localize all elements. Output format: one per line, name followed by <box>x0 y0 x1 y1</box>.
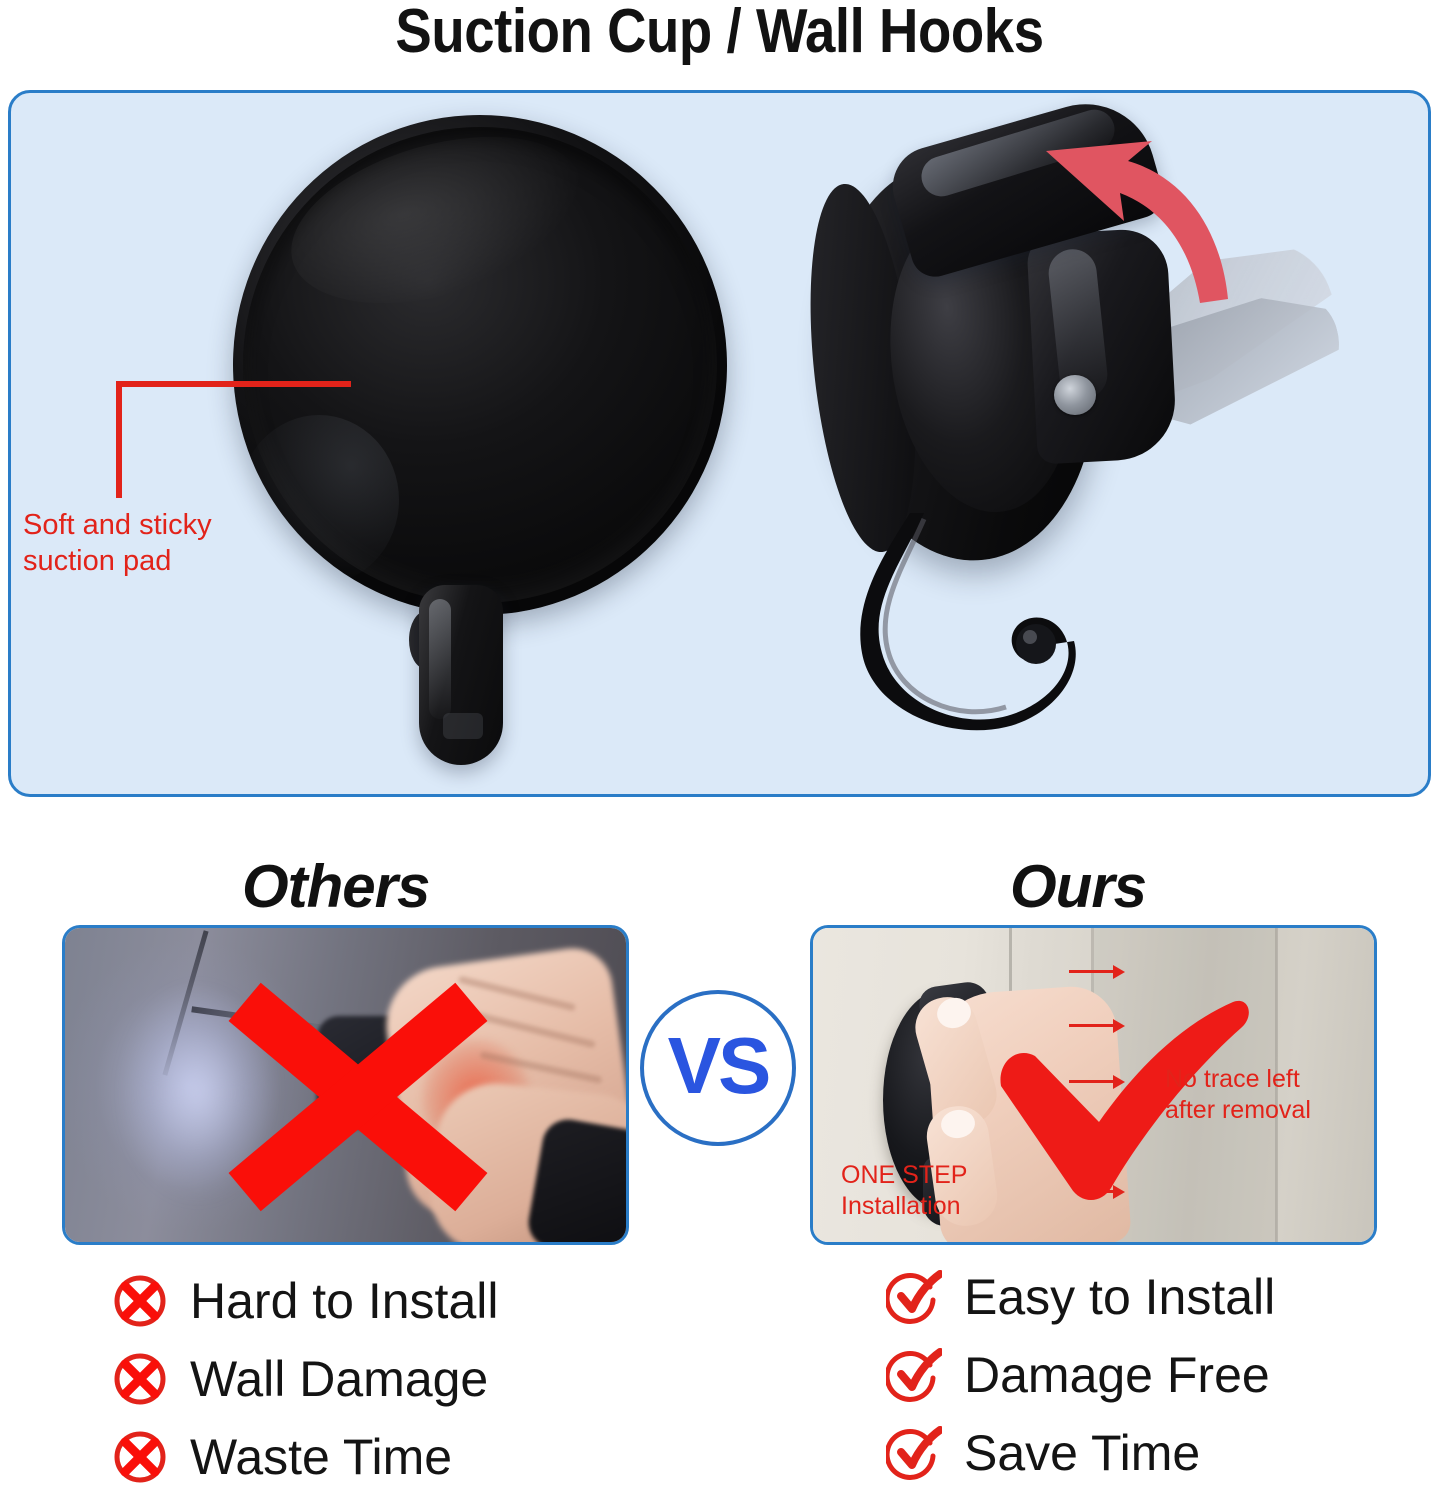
list-item: Waste Time <box>112 1418 498 1496</box>
others-photo <box>65 928 626 1242</box>
others-photo-frame <box>62 925 629 1245</box>
no-trace-line-1: No trace left <box>1165 1064 1311 1095</box>
one-step-line-1: ONE STEP <box>841 1160 967 1191</box>
one-step-line-2: Installation <box>841 1191 967 1222</box>
list-item-label: Wall Damage <box>190 1350 488 1408</box>
pivot-rivet <box>1054 375 1096 415</box>
list-item-label: Easy to Install <box>964 1268 1275 1326</box>
vs-label: VS <box>668 1026 769 1106</box>
circle-x-icon <box>112 1351 168 1407</box>
others-heading: Others <box>242 852 429 921</box>
circle-x-icon <box>112 1429 168 1485</box>
circle-x-icon <box>112 1273 168 1329</box>
list-item: Hard to Install <box>112 1262 498 1340</box>
list-item: Easy to Install <box>886 1258 1275 1336</box>
ours-heading: Ours <box>1010 852 1146 921</box>
circle-check-icon <box>886 1425 942 1481</box>
hero-product-panel: Soft and sticky suction pad <box>8 90 1431 797</box>
list-item-label: Hard to Install <box>190 1272 498 1330</box>
list-item-label: Waste Time <box>190 1428 452 1486</box>
suction-pad-annotation: Soft and sticky suction pad <box>23 508 273 580</box>
ours-feature-list: Easy to Install Damage Free Save Time <box>886 1258 1275 1492</box>
red-x-overlay <box>223 986 493 1208</box>
hook-embossed-mark <box>443 713 483 739</box>
circle-check-icon <box>886 1347 942 1403</box>
lever-motion-arrow <box>1032 117 1332 367</box>
list-item: Damage Free <box>886 1336 1275 1414</box>
no-trace-line-2: after removal <box>1165 1095 1311 1126</box>
annotation-line-2: suction pad <box>23 544 273 580</box>
page-title: Suction Cup / Wall Hooks <box>86 0 1352 67</box>
list-item-label: Damage Free <box>964 1346 1270 1404</box>
wall-arrow <box>1069 970 1115 973</box>
wall-arrow-head <box>1113 965 1125 979</box>
suction-cup-front-view <box>233 115 727 615</box>
hook-side-profile <box>860 513 1150 743</box>
hook-gloss-highlight <box>429 599 451 719</box>
no-trace-label: No trace left after removal <box>1165 1064 1311 1125</box>
annotation-line-1: Soft and sticky <box>23 508 273 544</box>
vs-badge: VS <box>640 990 796 1146</box>
list-item: Wall Damage <box>112 1340 498 1418</box>
circle-check-icon <box>886 1269 942 1325</box>
ours-photo: No trace left after removal ONE STEP Ins… <box>813 928 1374 1242</box>
one-step-label: ONE STEP Installation <box>841 1160 967 1221</box>
others-feature-list: Hard to Install Wall Damage Waste Time <box>112 1262 498 1496</box>
ours-photo-frame: No trace left after removal ONE STEP Ins… <box>810 925 1377 1245</box>
list-item-label: Save Time <box>964 1424 1200 1482</box>
list-item: Save Time <box>886 1414 1275 1492</box>
suction-cup-side-view <box>806 113 1326 783</box>
product-infographic: Suction Cup / Wall Hooks Soft and sticky… <box>0 0 1439 1500</box>
